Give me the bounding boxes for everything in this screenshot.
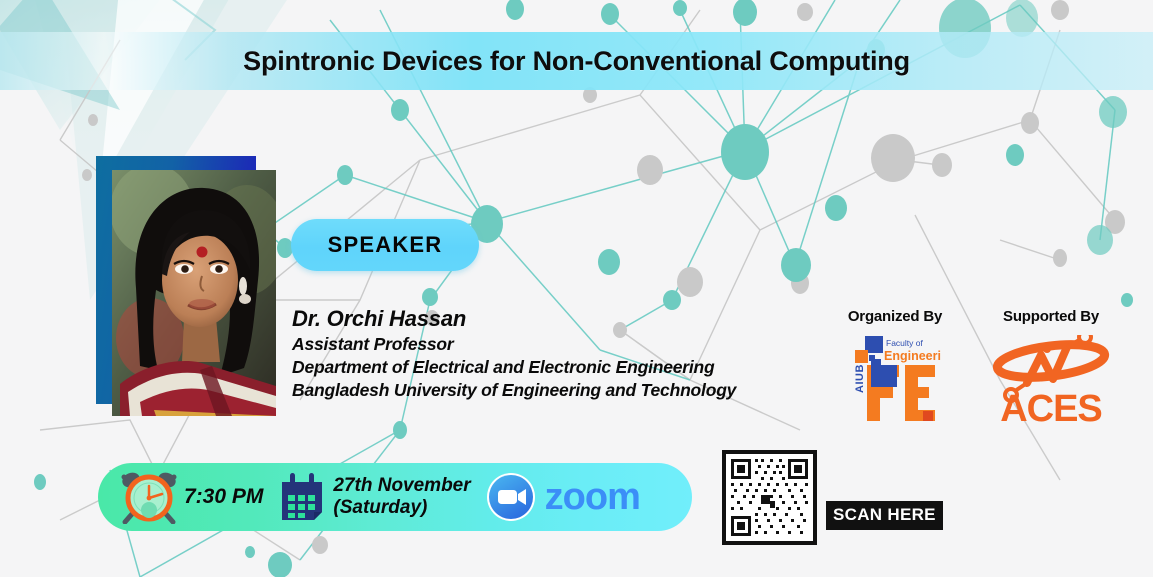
aces-logo: ACES bbox=[981, 335, 1121, 427]
page-title: Spintronic Devices for Non-Conventional … bbox=[243, 46, 910, 77]
event-date-line2: (Saturday) bbox=[333, 497, 470, 519]
event-info-bar: 7:30 PM 27th November (Saturday) bbox=[98, 463, 692, 531]
speaker-info: Dr. Orchi Hassan Assistant Professor Dep… bbox=[292, 305, 736, 402]
poster-canvas: Spintronic Devices for Non-Conventional … bbox=[0, 0, 1153, 577]
supported-by-block: Supported By ACES bbox=[975, 308, 1127, 427]
event-date: 27th November (Saturday) bbox=[333, 475, 470, 520]
speaker-title: Assistant Professor bbox=[292, 333, 736, 356]
zoom-wordmark: zoom bbox=[545, 476, 640, 519]
organized-by-caption: Organized By bbox=[845, 308, 945, 325]
event-time: 7:30 PM bbox=[184, 485, 263, 509]
supported-by-caption: Supported By bbox=[975, 308, 1127, 325]
speaker-department: Department of Electrical and Electronic … bbox=[292, 356, 736, 379]
calendar-icon bbox=[279, 472, 325, 522]
speaker-institution: Bangladesh University of Engineering and… bbox=[292, 379, 736, 402]
speaker-badge: SPEAKER bbox=[291, 219, 479, 271]
qr-code-icon[interactable] bbox=[722, 450, 817, 545]
svg-text:Engineering: Engineering bbox=[884, 349, 941, 363]
alarm-clock-icon bbox=[120, 470, 178, 524]
speaker-name: Dr. Orchi Hassan bbox=[292, 305, 736, 333]
qr-block: SCAN HERE bbox=[722, 450, 817, 545]
title-banner: Spintronic Devices for Non-Conventional … bbox=[0, 32, 1153, 90]
organized-by-block: Organized By bbox=[845, 308, 945, 423]
avatar bbox=[112, 170, 276, 416]
speaker-photo-wrapper bbox=[96, 156, 276, 416]
event-date-line1: 27th November bbox=[333, 475, 470, 497]
svg-text:ACES: ACES bbox=[1000, 388, 1102, 427]
speaker-badge-label: SPEAKER bbox=[328, 232, 443, 258]
svg-text:Faculty of: Faculty of bbox=[886, 338, 923, 348]
aiub-faculty-of-engineering-logo: AIUB Faculty of Engineering bbox=[849, 331, 941, 423]
zoom-camera-icon bbox=[485, 471, 537, 523]
svg-text:AIUB: AIUB bbox=[854, 364, 866, 393]
scan-here-label: SCAN HERE bbox=[826, 501, 943, 530]
